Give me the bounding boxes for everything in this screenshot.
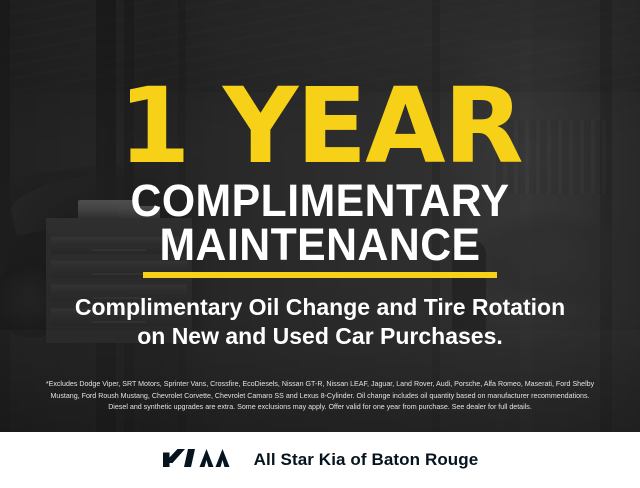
disclaimer-line-3: Diesel and synthetic upgrades are extra.…	[14, 402, 626, 414]
disclaimer-text: *Excludes Dodge Viper, SRT Motors, Sprin…	[14, 379, 626, 414]
promotional-banner: 1 YEAR COMPLIMENTARY MAINTENANCE Complim…	[0, 0, 640, 488]
kia-logo-icon	[162, 445, 234, 476]
dealer-name: All Star Kia of Baton Rouge	[254, 450, 479, 470]
disclaimer-line-1: *Excludes Dodge Viper, SRT Motors, Sprin…	[14, 379, 626, 391]
offer-subline-complimentary: COMPLIMENTARY	[16, 178, 624, 223]
promo-description-line-2: on New and Used Car Purchases.	[0, 322, 640, 350]
offer-headline: 1 YEAR	[0, 74, 640, 178]
banner-content: 1 YEAR COMPLIMENTARY MAINTENANCE Complim…	[0, 0, 640, 488]
dealer-footer: All Star Kia of Baton Rouge	[0, 432, 640, 488]
promo-description-line-1: Complimentary Oil Change and Tire Rotati…	[0, 293, 640, 321]
disclaimer-line-2: Mustang, Ford Roush Mustang, Chevrolet C…	[14, 391, 626, 403]
yellow-divider-bar	[143, 272, 497, 278]
offer-subline-maintenance: MAINTENANCE	[16, 222, 624, 267]
